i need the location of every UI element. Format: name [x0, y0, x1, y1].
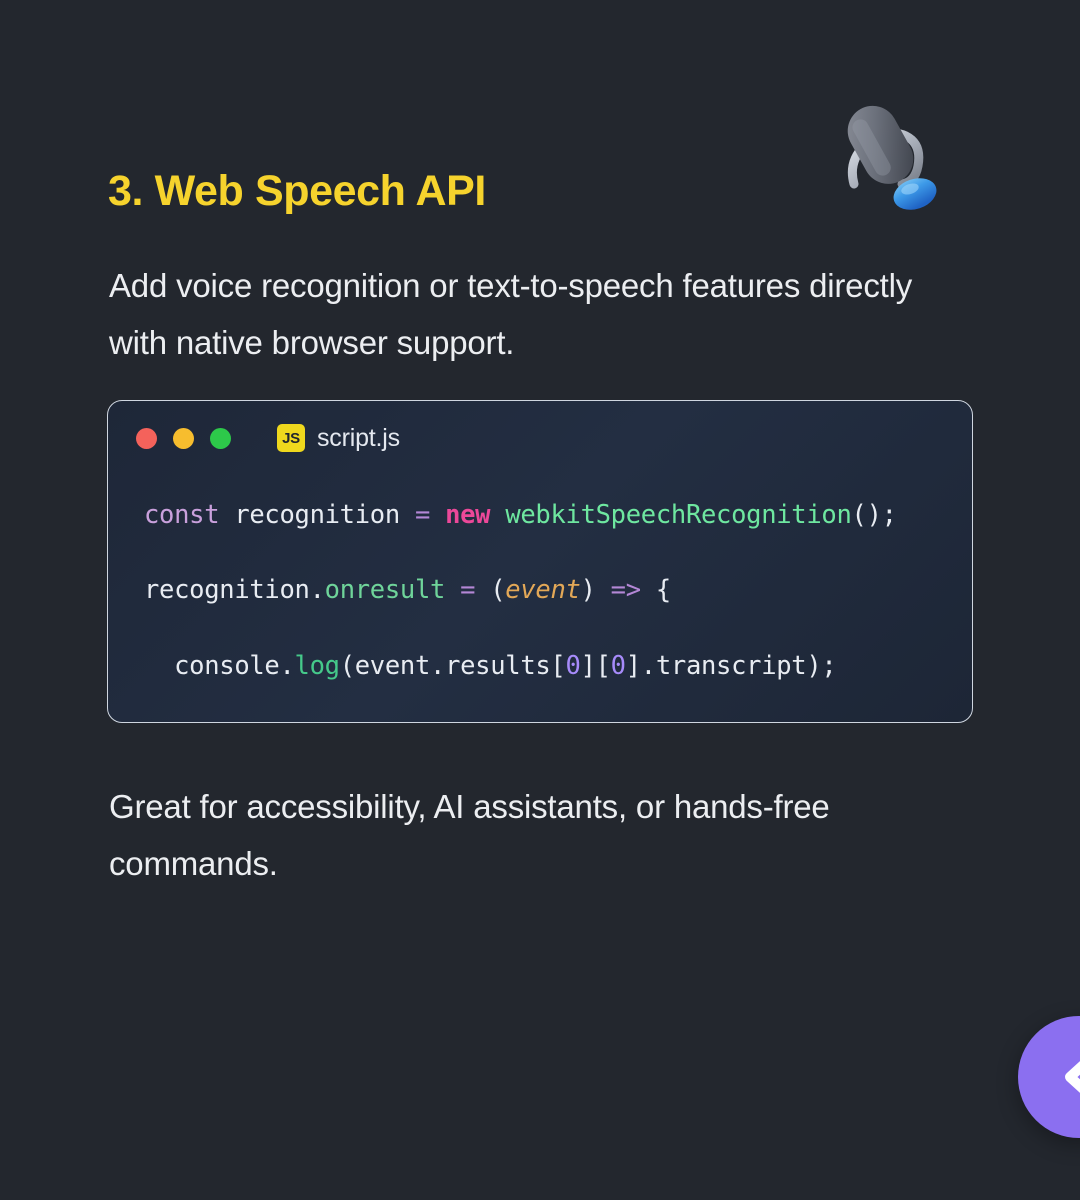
code-token: ();: [852, 500, 897, 530]
code-token: =>: [611, 575, 641, 605]
code-token: (: [475, 575, 505, 605]
code-token: =: [460, 575, 475, 605]
previous-slide-button[interactable]: [1018, 1016, 1080, 1138]
code-window-titlebar: JS script.js: [108, 401, 972, 475]
code-token: const: [144, 500, 219, 530]
code-token: new: [445, 500, 490, 530]
code-token: 0: [611, 651, 626, 681]
code-window: JS script.js const recognition = new web…: [107, 400, 973, 723]
window-controls: [136, 428, 231, 449]
page-title: 3. Web Speech API: [108, 166, 486, 217]
code-token: webkitSpeechRecognition: [505, 500, 851, 530]
code-line: recognition.onresult = (event) => {: [144, 572, 972, 610]
minimize-dot-icon[interactable]: [173, 428, 194, 449]
maximize-dot-icon[interactable]: [210, 428, 231, 449]
code-line: const recognition = new webkitSpeechReco…: [144, 497, 972, 535]
outro-paragraph: Great for accessibility, AI assistants, …: [109, 779, 939, 893]
code-token: =: [415, 500, 430, 530]
code-token: ): [581, 575, 611, 605]
file-tab[interactable]: JS script.js: [277, 424, 400, 453]
code-token: [445, 575, 460, 605]
code-token: [490, 500, 505, 530]
code-token: log: [295, 651, 340, 681]
javascript-file-icon: JS: [277, 424, 305, 452]
code-token: [430, 500, 445, 530]
code-token: {: [641, 575, 671, 605]
code-token: event: [505, 575, 580, 605]
close-dot-icon[interactable]: [136, 428, 157, 449]
code-token: recognition: [219, 500, 415, 530]
code-token: ].transcript);: [626, 651, 837, 681]
code-token: recognition.: [144, 575, 325, 605]
code-token: ][: [581, 651, 611, 681]
code-line: console.log(event.results[0][0].transcri…: [144, 648, 972, 686]
chevron-left-icon: [1045, 1046, 1080, 1108]
slide-canvas: 3. Web Speech API Add voice recognition …: [0, 0, 1080, 1200]
code-token: onresult: [325, 575, 445, 605]
code-token: 0: [566, 651, 581, 681]
studio-microphone-icon: [818, 88, 944, 214]
intro-paragraph: Add voice recognition or text-to-speech …: [109, 258, 939, 372]
code-token: console.: [144, 651, 295, 681]
code-block: const recognition = new webkitSpeechReco…: [108, 475, 972, 723]
code-token: (event.results[: [340, 651, 566, 681]
file-name-label: script.js: [317, 424, 400, 453]
